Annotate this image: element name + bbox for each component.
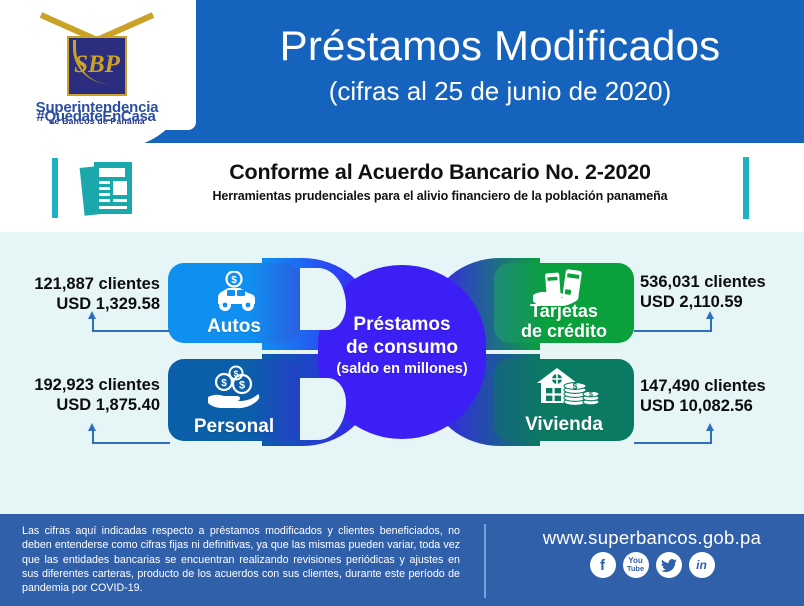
doc-line (99, 187, 110, 190)
doc-line (113, 199, 127, 202)
teal-rule-right (743, 157, 749, 219)
category-label-personal: Personal (168, 416, 300, 437)
subheader-text: Conforme al Acuerdo Bancario No. 2-2020 … (150, 159, 730, 205)
category-label-tarjetas-line2: de crédito (521, 321, 607, 341)
page-title: Préstamos Modificados (196, 20, 804, 72)
hashtag-text: #QuédateEnCasa (16, 108, 176, 125)
category-label-vivienda: Vivienda (494, 414, 634, 435)
clients-personal: 192,923 clientes (8, 375, 160, 395)
source-bar: Fuente: Superintendencia de Bancos de Pa… (0, 464, 804, 514)
car-with-dollar-icon: $ (168, 271, 300, 313)
category-card-tarjetas[interactable]: Tarjetas de crédito (494, 263, 634, 343)
clients-vivienda: 147,490 clientes (640, 376, 804, 396)
category-card-vivienda[interactable]: $ $ Vivienda (494, 359, 634, 441)
category-card-personal[interactable]: $ $ $ Personal (168, 359, 300, 441)
amount-vivienda: USD 10,082.56 (640, 396, 804, 416)
amount-personal: USD 1,875.40 (8, 395, 160, 415)
footer-disclaimer: Las cifras aquí indicadas respecto a pré… (22, 524, 460, 595)
footer-website[interactable]: www.superbancos.gob.pa (512, 527, 792, 549)
clients-autos: 121,887 clientes (8, 274, 160, 294)
facebook-icon[interactable]: f (590, 552, 616, 578)
documents-icon-sheet-front (94, 162, 132, 214)
svg-text:$: $ (221, 378, 227, 389)
page-subtitle: (cifras al 25 de junio de 2020) (196, 74, 804, 108)
hub-label-line3: (saldo en millones) (312, 359, 492, 379)
youtube-icon-bottom: Tube (627, 565, 644, 573)
footer-divider (484, 524, 486, 598)
doc-line (99, 206, 127, 209)
subheader-sub: Herramientas prudenciales para el alivio… (150, 187, 730, 205)
documents-icon (80, 160, 138, 218)
amount-tarjetas: USD 2,110.59 (640, 292, 804, 312)
twitter-icon[interactable] (656, 552, 682, 578)
value-vivienda: 147,490 clientes USD 10,082.56 (640, 376, 804, 416)
svg-text:$: $ (239, 380, 245, 392)
house-with-coins-icon: $ $ (494, 363, 634, 409)
hub-label-line1: Préstamos (312, 313, 492, 336)
doc-line (99, 193, 110, 196)
category-label-tarjetas: Tarjetas de crédito (494, 301, 634, 341)
hub-label: Préstamos de consumo (saldo en millones) (312, 313, 492, 379)
doc-line (99, 199, 110, 202)
svg-text:$: $ (231, 275, 237, 286)
value-tarjetas: 536,031 clientes USD 2,110.59 (640, 272, 804, 312)
svg-text:$: $ (589, 392, 593, 399)
value-personal: 192,923 clientes USD 1,875.40 (8, 375, 160, 415)
doc-line (99, 181, 110, 184)
value-autos: 121,887 clientes USD 1,329.58 (8, 274, 160, 314)
teal-rule-left (52, 158, 58, 218)
category-card-autos[interactable]: $ Autos (168, 263, 300, 343)
infographic-root: SBP Superintendencia de Bancos de Panamá… (0, 0, 804, 606)
amount-autos: USD 1,329.58 (8, 294, 160, 314)
header-band: SBP Superintendencia de Bancos de Panamá… (0, 0, 804, 143)
hand-with-coins-icon: $ $ $ (168, 365, 300, 411)
clients-tarjetas: 536,031 clientes (640, 272, 804, 292)
svg-text:$: $ (573, 382, 578, 391)
subheader-heading: Conforme al Acuerdo Bancario No. 2-2020 (150, 159, 730, 186)
logo-roof-icon (41, 12, 153, 38)
page-title-group: Préstamos Modificados (cifras al 25 de j… (196, 20, 804, 108)
category-label-tarjetas-line1: Tarjetas (530, 301, 598, 321)
doc-line (99, 168, 125, 177)
category-label-autos: Autos (168, 316, 300, 337)
youtube-icon[interactable]: You Tube (623, 552, 649, 578)
social-links: f You Tube in (512, 552, 792, 578)
logo-mark: SBP (69, 51, 125, 79)
hub-label-line2: de consumo (312, 336, 492, 359)
linkedin-icon[interactable]: in (689, 552, 715, 578)
doc-block (113, 181, 127, 195)
logo-box: SBP (67, 36, 127, 96)
